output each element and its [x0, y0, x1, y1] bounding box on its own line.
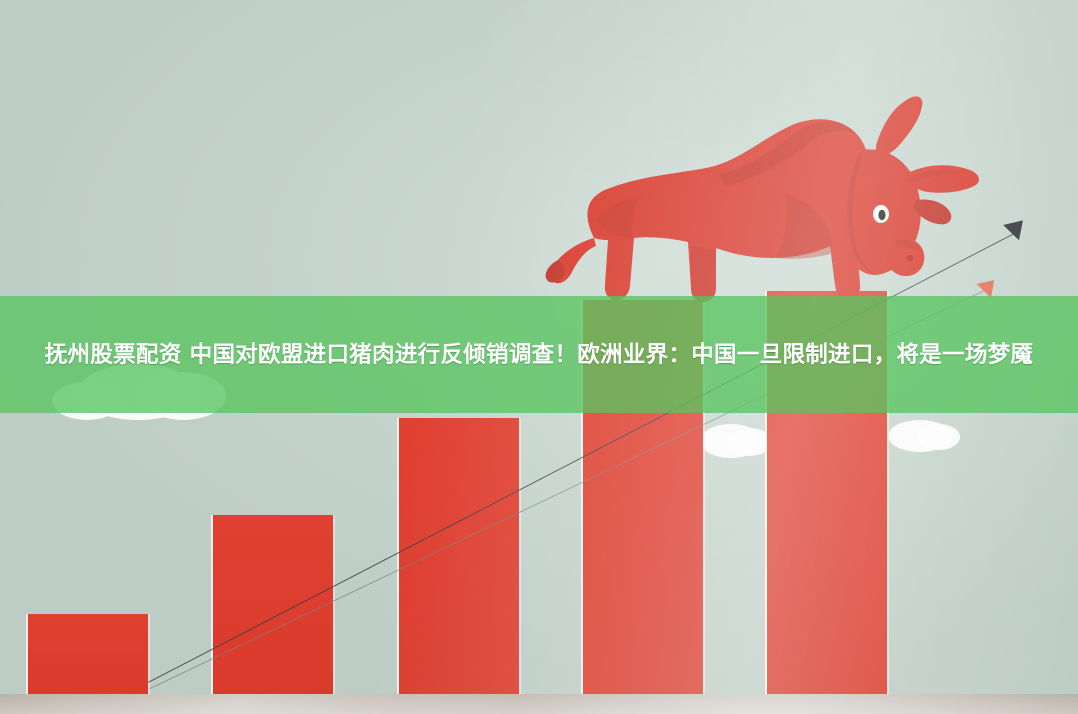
cloud-center-b [728, 428, 772, 456]
bull-shading-leg [691, 246, 716, 302]
ground-reflection [0, 694, 1078, 714]
bull-illustration [524, 88, 994, 318]
bull-nostril [907, 255, 913, 261]
headline-text: 抚州股票配资 中国对欧盟进口猪肉进行反倾销调查！欧洲业界：中国一旦限制进口，将是… [9, 335, 1069, 375]
news-thumbnail-image: 抚州股票配资 中国对欧盟进口猪肉进行反倾销调查！欧洲业界：中国一旦限制进口，将是… [0, 0, 1078, 714]
bull-svg [524, 88, 994, 318]
bar-1 [28, 614, 148, 694]
headline-band: 抚州股票配资 中国对欧盟进口猪肉进行反倾销调查！欧洲业界：中国一旦限制进口，将是… [0, 296, 1078, 413]
bar-2 [213, 515, 333, 694]
bull-horn-upper [876, 96, 922, 158]
bar-3 [399, 418, 519, 694]
bull-pupil [878, 210, 885, 220]
cloud-right-b [918, 424, 960, 450]
